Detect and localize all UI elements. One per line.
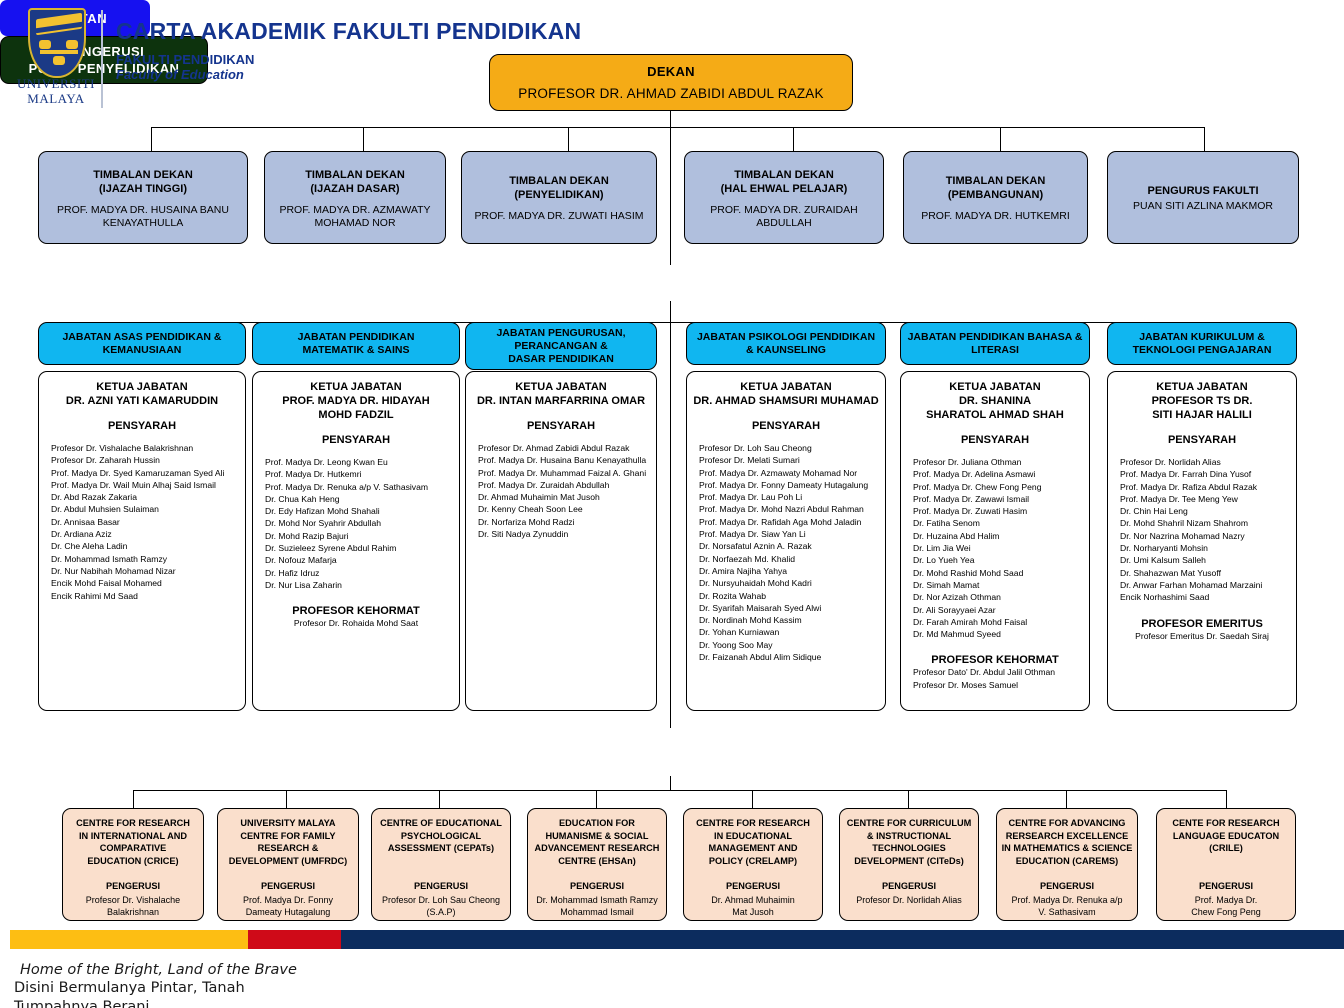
centre-role: PENGERUSI <box>106 881 160 891</box>
staff-item: Dr. Syarifah Maisarah Syed Alwi <box>699 602 879 614</box>
connector-spine-lower <box>670 301 671 728</box>
staff-item: Profesor Dr. Ahmad Zabidi Abdul Razak <box>478 442 650 454</box>
section-pensyarah: PENSYARAH <box>45 420 239 432</box>
research-centre-6[interactable]: CENTRE FOR CURRICULUM & INSTRUCTIONAL TE… <box>839 808 979 921</box>
staff-item: Profesor Dr. Melati Sumari <box>699 454 879 466</box>
deputy-dean-box-1[interactable]: TIMBALAN DEKAN (IJAZAH TINGGI) PROF. MAD… <box>38 151 248 244</box>
ketua-name-line-1: DR. AZNI YATI KAMARUDDIN <box>45 394 239 408</box>
connector-deputy-1 <box>151 127 152 151</box>
research-centre-2[interactable]: UNIVERSITY MALAYA CENTRE FOR FAMILY RESE… <box>217 808 359 921</box>
staff-list: Profesor Dr. Juliana Othman Prof. Madya … <box>907 456 1083 640</box>
centre-name-line-4: DEVELOPMENT (CITeDs) <box>847 855 972 868</box>
staff-item: Dr. Anwar Farhan Mohamad Marzaini <box>1120 579 1290 591</box>
research-centre-5[interactable]: CENTRE FOR RESEARCH IN EDUCATIONAL MANAG… <box>683 808 823 921</box>
deputy-name: PROF. MADYA DR. ZURAIDAH ABDULLAH <box>690 204 878 230</box>
centre-person-line-1: Profesor Dr. Norlidah Alias <box>856 894 962 906</box>
centre-name-line-2: PSYCHOLOGICAL <box>380 830 502 843</box>
ketua-label: KETUA JABATAN <box>907 380 1083 394</box>
staff-item: Dr. Simah Mamat <box>913 579 1083 591</box>
page-title: CARTA AKADEMIK FAKULTI PENDIDIKAN <box>116 18 581 45</box>
staff-item: Dr. Mohd Razip Bajuri <box>265 530 453 542</box>
research-centre-8[interactable]: CENTE FOR RESEARCH LANGUAGE EDUCATON (CR… <box>1156 808 1296 921</box>
staff-item: Dr. Umi Kalsum Salleh <box>1120 554 1290 566</box>
section-profesor-kehormat: PROFESOR KEHORMAT <box>259 605 453 617</box>
deputy-name: PROF. MADYA DR. AZMAWATY MOHAMAD NOR <box>270 204 440 230</box>
staff-item: Prof. Madya Dr. Zawawi Ismail <box>913 493 1083 505</box>
ketua-name-line-2: MOHD FADZIL <box>259 408 453 422</box>
staff-item: Encik Norhashimi Saad <box>1120 591 1290 603</box>
connector-centre-3 <box>439 790 440 808</box>
staff-item: Prof. Madya Dr. Hutkemri <box>265 468 453 480</box>
staff-item: Prof. Madya Dr. Mohd Nazri Abdul Rahman <box>699 503 879 515</box>
logo-divider <box>101 10 103 108</box>
university-logo: UNIVERSITI MALAYA <box>10 6 102 114</box>
centre-name-line-4: EDUCATION (CRICE) <box>76 855 190 868</box>
centre-name-line-4: DEVELOPMENT (UMFRDC) <box>229 855 347 868</box>
staff-item: Dr. Che Aleha Ladin <box>51 540 239 552</box>
dept-header-2[interactable]: JABATAN PENDIDIKAN MATEMATIK & SAINS <box>252 322 460 365</box>
staff-item: Prof. Madya Dr. Muhammad Faizal A. Ghani <box>478 467 650 479</box>
ketua-label: KETUA JABATAN <box>693 380 879 394</box>
connector-research-down <box>670 776 671 790</box>
section-profesor-kehormat: PROFESOR KEHORMAT <box>907 654 1083 666</box>
centre-name-line-3: TECHNOLOGIES <box>847 842 972 855</box>
research-centre-7[interactable]: CENTRE FOR ADVANCING RERSEARCH EXCELLENC… <box>996 808 1138 921</box>
dean-role: DEKAN <box>647 64 695 79</box>
dept-header-line-1: JABATAN ASAS PENDIDIKAN & <box>62 331 221 344</box>
deputy-dean-box-3[interactable]: TIMBALAN DEKAN (PENYELIDIKAN) PROF. MADY… <box>461 151 657 244</box>
centre-name-line-1: CENTRE FOR ADVANCING <box>1002 817 1133 830</box>
staff-item: Dr. Lo Yueh Yea <box>913 554 1083 566</box>
dept-header-line-2: KEMANUSIAAN <box>62 344 221 357</box>
deputy-role-line2: (IJAZAH TINGGI) <box>99 183 187 195</box>
staff-item: Dr. Mohd Rashid Mohd Saad <box>913 567 1083 579</box>
dept-header-6[interactable]: JABATAN KURIKULUM & TEKNOLOGI PENGAJARAN <box>1107 322 1297 365</box>
staff-item: Dr. Hafiz Idruz <box>265 567 453 579</box>
staff-item: Dr. Lim Jia Wei <box>913 542 1083 554</box>
emeritus-professor-item: Profesor Emeritus Dr. Saedah Siraj <box>1114 630 1290 642</box>
deputy-role-line1: TIMBALAN DEKAN <box>509 175 609 187</box>
staff-item: Prof. Madya Dr. Wail Muin Alhaj Said Ism… <box>51 479 239 491</box>
staff-item: Dr. Nur Lisa Zaharin <box>265 579 453 591</box>
staff-item: Dr. Faizanah Abdul Alim Sidique <box>699 651 879 663</box>
centre-name-line-3: RESEARCH & <box>229 842 347 855</box>
staff-item: Prof. Madya Dr. Siaw Yan Li <box>699 528 879 540</box>
centre-role: PENGERUSI <box>1040 881 1094 891</box>
dept-header-line-1: JABATAN PENDIDIKAN <box>298 331 415 344</box>
staff-item: Prof. Madya Dr. Adelina Asmawi <box>913 468 1083 480</box>
staff-list: Profesor Dr. Ahmad Zabidi Abdul Razak Pr… <box>472 442 650 540</box>
centre-name-line-1: CENTE FOR RESEARCH <box>1172 817 1279 830</box>
dept-header-line-1: JABATAN PENGURUSAN, <box>496 327 625 340</box>
centre-name-line-2: & INSTRUCTIONAL <box>847 830 972 843</box>
centre-name-line-1: CENTRE FOR RESEARCH <box>696 817 810 830</box>
section-pensyarah: PENSYARAH <box>907 434 1083 446</box>
dept-header-1[interactable]: JABATAN ASAS PENDIDIKAN & KEMANUSIAAN <box>38 322 246 365</box>
staff-item: Prof. Madya Dr. Zuwati Hasim <box>913 505 1083 517</box>
ketua-label: KETUA JABATAN <box>45 380 239 394</box>
staff-item: Encik Rahimi Md Saad <box>51 590 239 602</box>
centre-name-line-1: CENTRE FOR RESEARCH <box>76 817 190 830</box>
connector-research-bus <box>133 790 1226 791</box>
staff-item: Dr. Chin Hai Leng <box>1120 505 1290 517</box>
footer-bar-red <box>248 930 341 949</box>
staff-item: Prof. Madya Dr. Azmawaty Mohamad Nor <box>699 467 879 479</box>
honorary-professor-item: Profesor Dato' Dr. Abdul Jalil Othman <box>907 666 1083 678</box>
honorary-professor-item: Profesor Dr. Moses Samuel <box>907 679 1083 691</box>
faculty-name-en: Faculty of Education <box>116 67 244 82</box>
dept-header-line-1: JABATAN KURIKULUM & <box>1133 331 1272 344</box>
connector-centre-4 <box>596 790 597 808</box>
centre-person-line-2: V. Sathasivam <box>1011 906 1122 918</box>
faculty-name-ms: FAKULTI PENDIDIKAN <box>116 52 254 67</box>
connector-deputy-bus <box>151 127 1204 128</box>
staff-item: Prof. Madya Dr. Rafidah Aga Mohd Jaladin <box>699 516 879 528</box>
connector-centre-1 <box>133 790 134 808</box>
dean-name: PROFESOR DR. AHMAD ZABIDI ABDUL RAZAK <box>518 86 823 101</box>
dept-header-4[interactable]: JABATAN PSIKOLOGI PENDIDIKAN & KAUNSELIN… <box>686 322 886 365</box>
staff-item: Dr. Huzaina Abd Halim <box>913 530 1083 542</box>
deputy-role-line1: TIMBALAN DEKAN <box>93 169 193 181</box>
ketua-name-line-2: SITI HAJAR HALILI <box>1114 408 1290 422</box>
centre-person-line-1: Dr. Ahmad Muhaimin <box>711 894 795 906</box>
section-pensyarah: PENSYARAH <box>472 420 650 432</box>
connector-spine-upper <box>670 127 671 265</box>
centre-name-line-4: CENTRE (EHSAn) <box>535 855 660 868</box>
dept-header-3[interactable]: JABATAN PENGURUSAN, PERANCANGAN & DASAR … <box>465 322 657 370</box>
connector-centre-5 <box>752 790 753 808</box>
centre-person-line-1: Profesor Dr. Vishalache <box>86 894 180 906</box>
deputy-role-line1: TIMBALAN DEKAN <box>734 169 834 181</box>
staff-item: Dr. Md Mahmud Syeed <box>913 628 1083 640</box>
staff-item: Prof. Madya Dr. Leong Kwan Eu <box>265 456 453 468</box>
connector-centre-2 <box>286 790 287 808</box>
deputy-role-line2: (PENYELIDIKAN) <box>514 189 603 201</box>
footer-tagline-ms-line-1: Disini Bermulanya Pintar, Tanah <box>14 980 245 996</box>
centre-person-line-2: (S.A.P) <box>382 906 500 918</box>
centre-name-line-2: IN EDUCATIONAL <box>696 830 810 843</box>
staff-item: Dr. Norharyanti Mohsin <box>1120 542 1290 554</box>
dept-body-1: KETUA JABATAN DR. AZNI YATI KAMARUDDIN P… <box>38 371 246 711</box>
centre-name-line-1: CENTRE FOR CURRICULUM <box>847 817 972 830</box>
section-pensyarah: PENSYARAH <box>1114 434 1290 446</box>
centre-name-line-3: ASSESSMENT (CEPATs) <box>380 842 502 855</box>
ketua-name-line-1: DR. AHMAD SHAMSURI MUHAMAD <box>693 394 879 408</box>
footer-bar-yellow <box>10 930 248 949</box>
deputy-role-line2: (HAL EHWAL PELAJAR) <box>721 183 848 195</box>
logo-wordmark: UNIVERSITI MALAYA <box>10 76 102 106</box>
staff-item: Prof. Madya Dr. Fonny Dameaty Hutagalung <box>699 479 879 491</box>
staff-item: Prof. Madya Dr. Tee Meng Yew <box>1120 493 1290 505</box>
centre-person-line-1: Prof. Madya Dr. Renuka a/p <box>1011 894 1122 906</box>
section-pensyarah: PENSYARAH <box>693 420 879 432</box>
centre-role: PENGERUSI <box>726 881 780 891</box>
staff-item: Prof. Madya Dr. Lau Poh Li <box>699 491 879 503</box>
dept-body-2: KETUA JABATAN PROF. MADYA DR. HIDAYAH MO… <box>252 371 460 711</box>
staff-item: Dr. Ali Sorayyaei Azar <box>913 604 1083 616</box>
centre-name-line-4: POLICY (CRELAMP) <box>696 855 810 868</box>
connector-deputy-6 <box>1204 127 1205 151</box>
logo-line-1: UNIVERSITI <box>10 76 102 91</box>
staff-list: Profesor Dr. Vishalache Balakrishnan Pro… <box>45 442 239 602</box>
centre-person-line-2: Balakrishnan <box>86 906 180 918</box>
centre-person-line-2: Chew Fong Peng <box>1191 906 1261 918</box>
staff-item: Dr. Nur Nabihah Mohamad Nizar <box>51 565 239 577</box>
dept-body-4: KETUA JABATAN DR. AHMAD SHAMSURI MUHAMAD… <box>686 371 886 711</box>
dean-box[interactable]: DEKAN PROFESOR DR. AHMAD ZABIDI ABDUL RA… <box>489 54 853 111</box>
ketua-name-line-1: DR. SHANINA <box>907 394 1083 408</box>
dept-body-6: KETUA JABATAN PROFESOR TS DR. SITI HAJAR… <box>1107 371 1297 711</box>
staff-item: Dr. Ahmad Muhaimin Mat Jusoh <box>478 491 650 503</box>
deputy-role-line2: (PEMBANGUNAN) <box>948 189 1043 201</box>
staff-item: Profesor Dr. Norlidah Alias <box>1120 456 1290 468</box>
staff-item: Dr. Yoong Soo May <box>699 639 879 651</box>
dept-header-5[interactable]: JABATAN PENDIDIKAN BAHASA & LITERASI <box>900 322 1090 365</box>
staff-item: Dr. Farah Amirah Mohd Faisal <box>913 616 1083 628</box>
deputy-role-line1: TIMBALAN DEKAN <box>305 169 405 181</box>
deputy-role-line1: TIMBALAN DEKAN <box>946 175 1046 187</box>
staff-item: Dr. Mohd Shahril Nizam Shahrom <box>1120 517 1290 529</box>
section-pensyarah: PENSYARAH <box>259 434 453 446</box>
staff-item: Dr. Nofouz Mafarja <box>265 554 453 566</box>
staff-item: Prof. Madya Dr. Syed Kamaruzaman Syed Al… <box>51 467 239 479</box>
centre-name-line-2: RERSEARCH EXCELLENCE <box>1002 830 1133 843</box>
dept-body-3: KETUA JABATAN DR. INTAN MARFARRINA OMAR … <box>465 371 657 711</box>
dept-header-line-2: LITERASI <box>908 344 1083 357</box>
staff-list: Prof. Madya Dr. Leong Kwan Eu Prof. Mady… <box>259 456 453 591</box>
deputy-role-line2: (IJAZAH DASAR) <box>310 183 399 195</box>
staff-item: Dr. Norfaezah Md. Khalid <box>699 553 879 565</box>
connector-deputy-5 <box>1000 127 1001 151</box>
centre-name-line-3: MANAGEMENT AND <box>696 842 810 855</box>
staff-item: Prof. Madya Dr. Renuka a/p V. Sathasivam <box>265 481 453 493</box>
staff-item: Dr. Abd Razak Zakaria <box>51 491 239 503</box>
manager-role: PENGURUS FAKULTI <box>1147 185 1258 197</box>
staff-item: Profesor Dr. Zaharah Hussin <box>51 454 239 466</box>
staff-item: Dr. Shahazwan Mat Yusoff <box>1120 567 1290 579</box>
centre-person-line-1: Dr. Mohammad Ismath Ramzy <box>536 894 658 906</box>
deputy-name: PROF. MADYA DR. HUTKEMRI <box>921 210 1070 223</box>
dept-header-line-2: PERANCANGAN & <box>496 340 625 353</box>
faculty-manager-box[interactable]: PENGURUS FAKULTI PUAN SITI AZLINA MAKMOR <box>1107 151 1299 244</box>
staff-item: Encik Mohd Faisal Mohamed <box>51 577 239 589</box>
section-profesor-emeritus: PROFESOR EMERITUS <box>1114 618 1290 630</box>
centre-person-line-1: Prof. Madya Dr. <box>1191 894 1261 906</box>
centre-name-line-3: ADVANCEMENT RESEARCH <box>535 842 660 855</box>
staff-list: Profesor Dr. Norlidah Alias Prof. Madya … <box>1114 456 1290 604</box>
deputy-dean-box-2[interactable]: TIMBALAN DEKAN (IJAZAH DASAR) PROF. MADY… <box>264 151 446 244</box>
centre-name-line-2: IN INTERNATIONAL AND <box>76 830 190 843</box>
staff-item: Dr. Suzieleez Syrene Abdul Rahim <box>265 542 453 554</box>
centre-name-line-4: EDUCATION (CAREMS) <box>1002 855 1133 868</box>
staff-item: Dr. Norsafatul Aznin A. Razak <box>699 540 879 552</box>
research-centre-3[interactable]: CENTRE OF EDUCATIONAL PSYCHOLOGICAL ASSE… <box>371 808 511 921</box>
deputy-name: PROF. MADYA DR. HUSAINA BANU KENAYATHULL… <box>44 204 242 230</box>
staff-item: Dr. Rozita Wahab <box>699 590 879 602</box>
staff-item: Profesor Dr. Loh Sau Cheong <box>699 442 879 454</box>
centre-role: PENGERUSI <box>570 881 624 891</box>
centre-person-line-2: Dameaty Hutagalung <box>243 906 333 918</box>
staff-item: Dr. Mohammad Ismath Ramzy <box>51 553 239 565</box>
staff-list: Profesor Dr. Loh Sau Cheong Profesor Dr.… <box>693 442 879 663</box>
centre-person-line-1: Prof. Madya Dr. Fonny <box>243 894 333 906</box>
staff-item: Dr. Nor Nazrina Mohamad Nazry <box>1120 530 1290 542</box>
centre-role: PENGERUSI <box>414 881 468 891</box>
staff-item: Prof. Madya Dr. Farrah Dina Yusof <box>1120 468 1290 480</box>
staff-item: Dr. Nursyuhaidah Mohd Kadri <box>699 577 879 589</box>
centre-person-line-1: Profesor Dr. Loh Sau Cheong <box>382 894 500 906</box>
staff-item: Dr. Kenny Cheah Soon Lee <box>478 503 650 515</box>
ketua-label: KETUA JABATAN <box>259 380 453 394</box>
centre-name-line-2: LANGUAGE EDUCATON <box>1172 830 1279 843</box>
staff-item: Dr. Yohan Kurniawan <box>699 626 879 638</box>
dept-header-line-1: JABATAN PENDIDIKAN BAHASA & <box>908 331 1083 344</box>
connector-centre-6 <box>908 790 909 808</box>
dept-header-line-3: DASAR PENDIDIKAN <box>496 353 625 366</box>
connector-centre-7 <box>1066 790 1067 808</box>
centre-name-line-3: (CRILE) <box>1172 842 1279 855</box>
dept-body-5: KETUA JABATAN DR. SHANINA SHARATOL AHMAD… <box>900 371 1090 711</box>
staff-item: Prof. Madya Dr. Husaina Banu Kenayathull… <box>478 454 650 466</box>
staff-item: Profesor Dr. Juliana Othman <box>913 456 1083 468</box>
staff-item: Prof. Madya Dr. Rafiza Abdul Razak <box>1120 481 1290 493</box>
staff-item: Dr. Nordinah Mohd Kassim <box>699 614 879 626</box>
staff-item: Dr. Annisaa Basar <box>51 516 239 528</box>
centre-name-line-2: HUMANISME & SOCIAL <box>535 830 660 843</box>
centre-role: PENGERUSI <box>261 881 315 891</box>
dept-header-line-2: MATEMATIK & SAINS <box>298 344 415 357</box>
centre-role: PENGERUSI <box>882 881 936 891</box>
centre-role: PENGERUSI <box>1199 881 1253 891</box>
research-centre-4[interactable]: EDUCATION FOR HUMANISME & SOCIAL ADVANCE… <box>527 808 667 921</box>
logo-line-2: MALAYA <box>10 91 102 106</box>
dept-header-line-2: TEKNOLOGI PENGAJARAN <box>1133 344 1272 357</box>
deputy-dean-box-5[interactable]: TIMBALAN DEKAN (PEMBANGUNAN) PROF. MADYA… <box>903 151 1088 244</box>
ketua-label: KETUA JABATAN <box>1114 380 1290 394</box>
connector-deputy-3 <box>568 127 569 151</box>
staff-item: Dr. Nor Azizah Othman <box>913 591 1083 603</box>
connector-deputy-2 <box>363 127 364 151</box>
staff-item: Dr. Siti Nadya Zynuddin <box>478 528 650 540</box>
centre-name-line-1: UNIVERSITY MALAYA <box>229 817 347 830</box>
staff-item: Dr. Fatiha Senom <box>913 517 1083 529</box>
centre-person-line-2: Mohammad Ismail <box>536 906 658 918</box>
staff-item: Dr. Amira Najiha Yahya <box>699 565 879 577</box>
footer-bar-blue <box>341 930 1344 949</box>
connector-deputy-4 <box>793 127 794 151</box>
centre-person-line-2: Mat Jusoh <box>711 906 795 918</box>
connector-dean-down <box>670 111 671 127</box>
ketua-name-line-1: PROFESOR TS DR. <box>1114 394 1290 408</box>
ketua-name-line-2: SHARATOL AHMAD SHAH <box>907 408 1083 422</box>
footer-tagline-en: Home of the Bright, Land of the Brave <box>20 962 297 978</box>
dept-header-line-2: & KAUNSELING <box>697 344 875 357</box>
deputy-dean-box-4[interactable]: TIMBALAN DEKAN (HAL EHWAL PELAJAR) PROF.… <box>684 151 884 244</box>
honorary-professor-item: Profesor Dr. Rohaida Mohd Saat <box>259 617 453 629</box>
staff-item: Dr. Abdul Muhsien Sulaiman <box>51 503 239 515</box>
university-malaya-crest-icon <box>28 8 86 78</box>
ketua-name-line-1: PROF. MADYA DR. HIDAYAH <box>259 394 453 408</box>
staff-item: Dr. Norfariza Mohd Radzi <box>478 516 650 528</box>
centre-name-line-3: IN MATHEMATICS & SCIENCE <box>1002 842 1133 855</box>
manager-name: PUAN SITI AZLINA MAKMOR <box>1133 200 1273 213</box>
dept-header-line-1: JABATAN PSIKOLOGI PENDIDIKAN <box>697 331 875 344</box>
staff-item: Dr. Edy Hafizan Mohd Shahali <box>265 505 453 517</box>
staff-item: Dr. Chua Kah Heng <box>265 493 453 505</box>
staff-item: Dr. Ardiana Aziz <box>51 528 239 540</box>
footer-tagline-ms-line-2: Tumpahnya Berani <box>14 999 149 1008</box>
staff-item: Prof. Madya Dr. Chew Fong Peng <box>913 481 1083 493</box>
connector-centre-8 <box>1226 790 1227 808</box>
centre-name-line-1: EDUCATION FOR <box>535 817 660 830</box>
staff-item: Prof. Madya Dr. Zuraidah Abdullah <box>478 479 650 491</box>
staff-item: Profesor Dr. Vishalache Balakrishnan <box>51 442 239 454</box>
ketua-label: KETUA JABATAN <box>472 380 650 394</box>
centre-name-line-3: COMPARATIVE <box>76 842 190 855</box>
centre-name-line-2: CENTRE FOR FAMILY <box>229 830 347 843</box>
deputy-name: PROF. MADYA DR. ZUWATI HASIM <box>475 210 644 223</box>
centre-name-line-1: CENTRE OF EDUCATIONAL <box>380 817 502 830</box>
research-centre-1[interactable]: CENTRE FOR RESEARCH IN INTERNATIONAL AND… <box>62 808 204 921</box>
staff-item: Dr. Mohd Nor Syahrir Abdullah <box>265 517 453 529</box>
ketua-name-line-1: DR. INTAN MARFARRINA OMAR <box>472 394 650 408</box>
